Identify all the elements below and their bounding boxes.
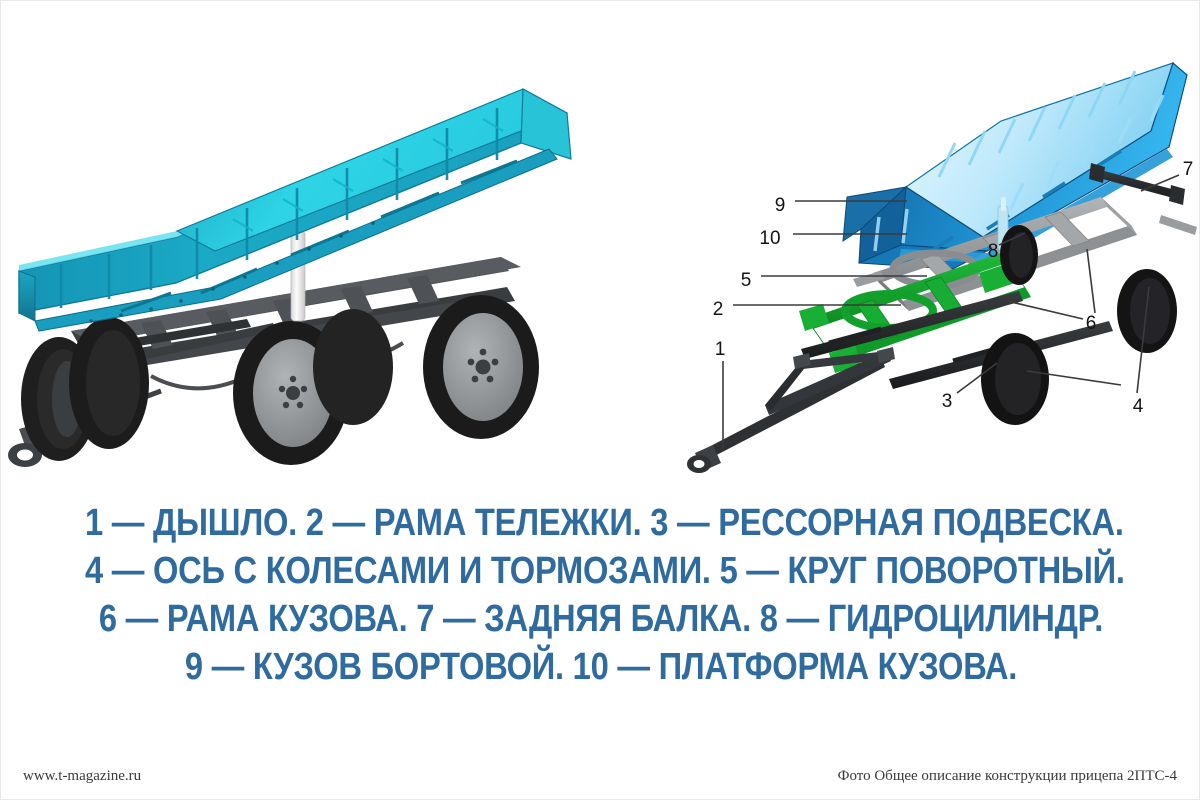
- trailer-photo: [1, 31, 601, 491]
- legend-line-1: 1 — ДЫШЛО. 2 — РАМА ТЕЛЕЖКИ. 3 — РЕССОРН…: [85, 499, 1117, 547]
- callout-4: 4: [1133, 396, 1144, 417]
- callout-9: 9: [775, 195, 786, 216]
- legend: 1 — ДЫШЛО. 2 — РАМА ТЕЛЕЖКИ. 3 — РЕССОРН…: [1, 499, 1200, 709]
- legend-line-2: 4 — ОСЬ С КОЛЕСАМИ И ТОРМОЗАМИ. 5 — КРУГ…: [85, 547, 1117, 595]
- trailer-exploded-diagram: 9 10 5 2 1 3 4 6 7 8: [641, 31, 1200, 491]
- callout-10: 10: [759, 228, 780, 249]
- footer-site-url[interactable]: www.t-magazine.ru: [23, 768, 141, 785]
- footer-figure-caption: Фото Общее описание конструкции прицепа …: [838, 768, 1177, 785]
- callout-3: 3: [942, 391, 953, 412]
- callout-8: 8: [988, 241, 999, 262]
- callout-2: 2: [713, 299, 724, 320]
- callout-6: 6: [1086, 313, 1097, 334]
- diagram-svg: 9 10 5 2 1 3 4 6 7 8: [641, 31, 1200, 491]
- callout-5: 5: [741, 270, 752, 291]
- diagram-drawbar: [687, 347, 895, 473]
- legend-line-4: 9 — КУЗОВ БОРТОВОЙ. 10 — ПЛАТФОРМА КУЗОВ…: [85, 643, 1117, 691]
- legend-line-3: 6 — РАМА КУЗОВА. 7 — ЗАДНЯЯ БАЛКА. 8 — Г…: [85, 595, 1117, 643]
- callout-7: 7: [1183, 159, 1194, 180]
- trailer-photo-svg: [1, 31, 601, 491]
- figure-page: 9 10 5 2 1 3 4 6 7 8 1 — ДЫШЛО. 2 — РАМА…: [0, 0, 1200, 800]
- callout-1: 1: [715, 339, 726, 360]
